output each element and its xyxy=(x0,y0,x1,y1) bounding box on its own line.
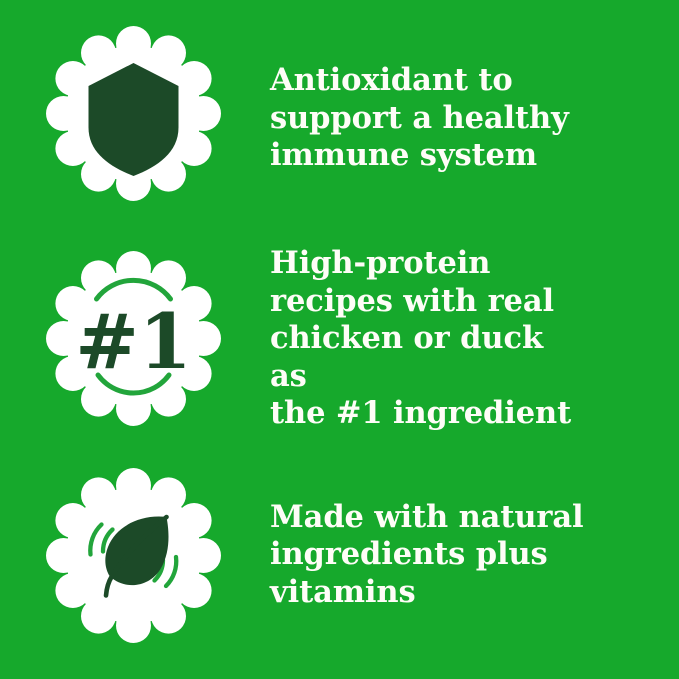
shield-badge xyxy=(46,30,221,205)
feature-text: High-protein recipes with real chicken o… xyxy=(270,245,590,433)
feature-row: Antioxidant to support a healthy immune … xyxy=(0,30,679,205)
feature-row: #1 High-protein recipes with real chicke… xyxy=(0,248,679,428)
feature-row: Made with natural ingredients plus vitam… xyxy=(0,465,679,645)
feature-benefits-panel: Antioxidant to support a healthy immune … xyxy=(0,0,679,679)
feature-text: Antioxidant to support a healthy immune … xyxy=(270,62,569,175)
leaf-badge xyxy=(46,468,221,643)
number-one-label: #1 xyxy=(75,297,192,386)
feature-text: Made with natural ingredients plus vitam… xyxy=(270,499,584,612)
number-one-badge: #1 xyxy=(46,251,221,426)
